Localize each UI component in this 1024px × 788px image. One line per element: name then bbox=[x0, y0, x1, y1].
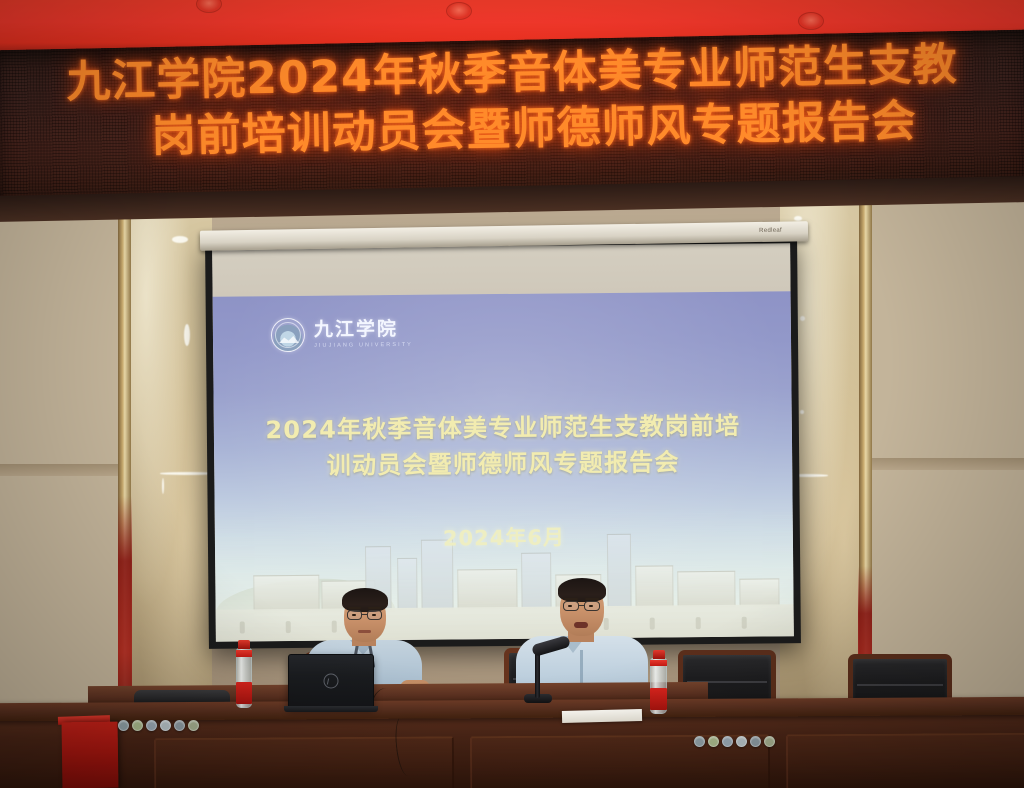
participant-mouth bbox=[358, 630, 371, 633]
ceiling-light-icon bbox=[446, 2, 472, 20]
ceiling-light-icon bbox=[196, 0, 222, 13]
document-papers[interactable] bbox=[562, 709, 642, 723]
slide-title: 2024年秋季音体美专业师范生支教岗前培 训动员会暨师德师风专题报告会 bbox=[214, 407, 793, 485]
table-control-buttons-right[interactable] bbox=[694, 736, 775, 747]
university-name-cn: 九江学院 bbox=[314, 320, 413, 341]
acoustic-panel-left bbox=[0, 196, 118, 756]
control-button[interactable] bbox=[694, 736, 705, 747]
table-panel bbox=[786, 733, 1024, 788]
conference-hall-photo: 九江学院2024年秋季音体美专业师范生支教 岗前培训动员会暨师德师风专题报告会 bbox=[0, 0, 1024, 788]
control-button[interactable] bbox=[736, 736, 747, 747]
control-button[interactable] bbox=[132, 720, 143, 731]
dell-logo-icon bbox=[324, 674, 339, 689]
university-name-en: JIUJIANG UNIVERSITY bbox=[314, 342, 413, 349]
control-button[interactable] bbox=[188, 720, 199, 731]
slide-title-line-1: 2024年秋季音体美专业师范生支教岗前培 bbox=[214, 407, 792, 449]
marble-pillar-left bbox=[118, 196, 212, 756]
water-bottle-right bbox=[650, 658, 667, 714]
projector-screen: 九江学院 JIUJIANG UNIVERSITY 2024年秋季音体美专业师范生… bbox=[205, 237, 801, 649]
university-seal-icon bbox=[271, 318, 305, 352]
control-button[interactable] bbox=[764, 736, 775, 747]
screen-blank-band bbox=[212, 243, 790, 297]
water-bottle-left bbox=[236, 648, 252, 708]
table-control-buttons-left[interactable] bbox=[118, 720, 199, 731]
control-button[interactable] bbox=[750, 736, 761, 747]
screen-brand-label: Redleaf bbox=[759, 228, 782, 234]
slide-date: 2024年6月 bbox=[215, 519, 793, 555]
control-button[interactable] bbox=[722, 736, 733, 747]
university-logo: 九江学院 JIUJIANG UNIVERSITY bbox=[271, 317, 413, 352]
speaker-mouth-open bbox=[574, 622, 588, 628]
laptop[interactable] bbox=[288, 654, 374, 708]
control-button[interactable] bbox=[146, 720, 157, 731]
ceiling-light-icon bbox=[798, 12, 824, 30]
laptop-keyboard-base[interactable] bbox=[284, 706, 378, 712]
control-button[interactable] bbox=[174, 720, 185, 731]
control-button[interactable] bbox=[118, 720, 129, 731]
slide-title-line-2: 训动员会暨师德师风专题报告会 bbox=[214, 443, 792, 485]
red-lectern bbox=[62, 722, 119, 788]
control-button[interactable] bbox=[160, 720, 171, 731]
control-button[interactable] bbox=[708, 736, 719, 747]
